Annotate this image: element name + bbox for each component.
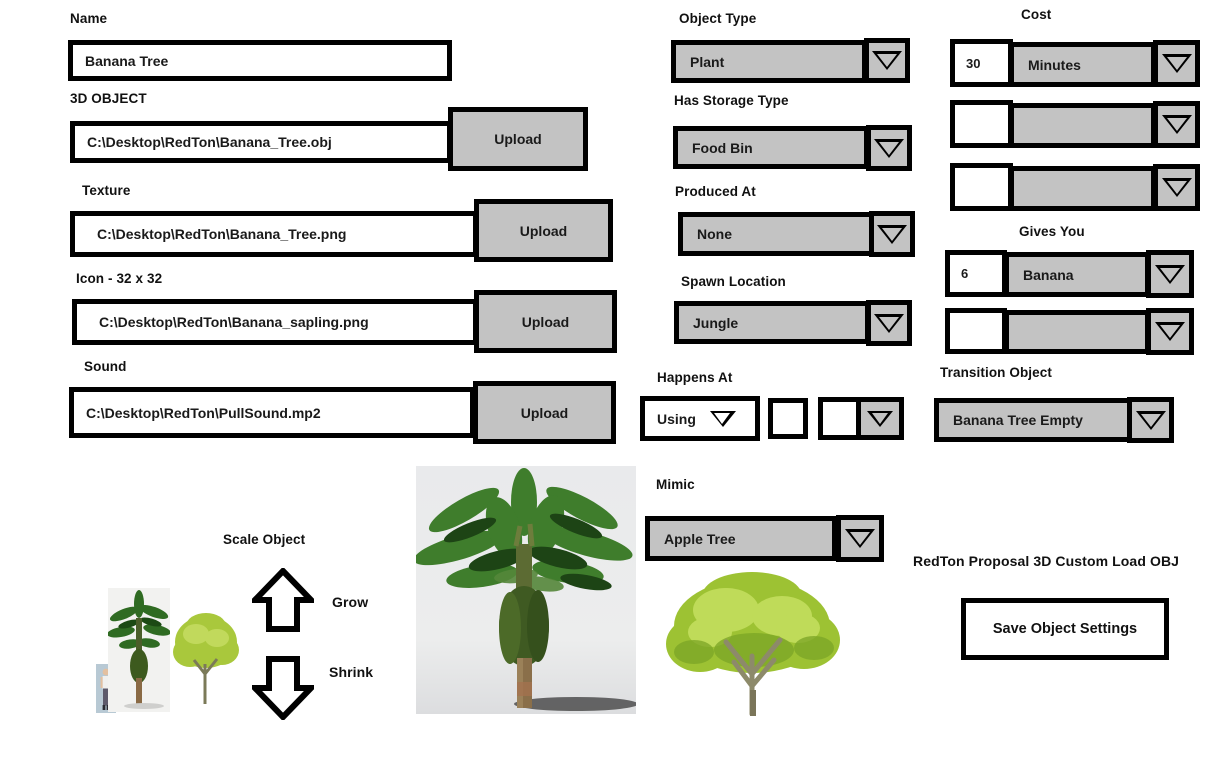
- gives-you-label: Gives You: [1019, 225, 1085, 239]
- happens-at-dropdown[interactable]: Using: [640, 396, 760, 441]
- happens-at-dropdown-arrow[interactable]: [856, 397, 904, 440]
- cost-amount-value-1: 30: [955, 56, 980, 71]
- object3d-upload-label: Upload: [494, 131, 541, 147]
- cost-unit-dropdown-3[interactable]: [1009, 166, 1156, 211]
- cost-unit-value-1: Minutes: [1014, 57, 1081, 73]
- sound-path-value: C:\Desktop\RedTon\PullSound.mp2: [74, 405, 321, 421]
- cost-label: Cost: [1021, 8, 1051, 22]
- texture-upload-button[interactable]: Upload: [474, 199, 613, 262]
- has-storage-type-value: Food Bin: [678, 140, 753, 156]
- name-input-value: Banana Tree: [73, 53, 168, 69]
- icon-path-input[interactable]: C:\Desktop\RedTon\Banana_sapling.png: [72, 299, 478, 345]
- cost-unit-dropdown-2[interactable]: [1009, 103, 1156, 148]
- icon-path-value: C:\Desktop\RedTon\Banana_sapling.png: [77, 314, 369, 330]
- gives-you-amount-input-1[interactable]: 6: [945, 250, 1007, 297]
- happens-at-box-2[interactable]: [768, 398, 808, 439]
- object-type-value: Plant: [676, 54, 724, 70]
- object-type-dropdown[interactable]: Plant: [671, 40, 867, 83]
- spawn-location-label: Spawn Location: [681, 275, 786, 289]
- spawn-location-dropdown-arrow[interactable]: [866, 300, 912, 346]
- arrow-up-icon: [252, 568, 314, 632]
- produced-at-value: None: [683, 226, 732, 242]
- texture-label: Texture: [82, 184, 130, 198]
- chevron-down-icon: [845, 529, 875, 548]
- produced-at-dropdown[interactable]: None: [678, 212, 874, 256]
- chevron-down-icon: [1162, 178, 1192, 197]
- gives-you-item-dropdown-arrow-2[interactable]: [1146, 308, 1194, 355]
- chevron-down-icon: [1155, 265, 1185, 284]
- has-storage-type-dropdown[interactable]: Food Bin: [673, 126, 869, 169]
- icon-upload-label: Upload: [522, 314, 569, 330]
- arrow-down-icon: [252, 656, 314, 720]
- has-storage-type-dropdown-arrow[interactable]: [866, 125, 912, 171]
- object-type-dropdown-arrow[interactable]: [864, 38, 910, 83]
- save-object-settings-button[interactable]: Save Object Settings: [961, 598, 1169, 660]
- transition-object-value: Banana Tree Empty: [939, 412, 1083, 428]
- scale-object-label: Scale Object: [223, 533, 305, 547]
- transition-object-dropdown[interactable]: Banana Tree Empty: [934, 398, 1132, 442]
- object3d-path-value: C:\Desktop\RedTon\Banana_Tree.obj: [75, 134, 332, 150]
- chevron-down-icon: [1136, 411, 1166, 430]
- grow-button[interactable]: [252, 568, 314, 632]
- chevron-down-icon: [1162, 115, 1192, 134]
- chevron-down-icon: [874, 314, 904, 333]
- gives-you-amount-value-1: 6: [950, 266, 968, 281]
- chevron-down-icon: [1155, 322, 1185, 341]
- transition-object-dropdown-arrow[interactable]: [1127, 397, 1174, 443]
- cost-amount-input-1[interactable]: 30: [950, 39, 1013, 87]
- happens-at-box-3[interactable]: [818, 397, 861, 440]
- gives-you-item-value-1: Banana: [1009, 267, 1074, 283]
- cost-unit-dropdown-arrow-3[interactable]: [1153, 164, 1200, 211]
- footer-note: RedTon Proposal 3D Custom Load OBJ: [913, 554, 1179, 568]
- object3d-path-input[interactable]: C:\Desktop\RedTon\Banana_Tree.obj: [70, 121, 452, 163]
- produced-at-dropdown-arrow[interactable]: [869, 211, 915, 257]
- chevron-down-icon: [874, 139, 904, 158]
- gives-you-item-dropdown-2[interactable]: [1004, 310, 1150, 354]
- gives-you-amount-input-2[interactable]: [945, 308, 1007, 354]
- scale-preview-apple-tree-image: [172, 608, 240, 708]
- scale-preview-banana-tree-image: [108, 588, 170, 712]
- chevron-down-icon: [710, 411, 736, 427]
- shrink-button[interactable]: [252, 656, 314, 720]
- chevron-down-icon: [1162, 54, 1192, 73]
- cost-unit-dropdown-arrow-2[interactable]: [1153, 101, 1200, 148]
- produced-at-label: Produced At: [675, 185, 756, 199]
- chevron-down-icon: [867, 411, 893, 427]
- cost-amount-input-2[interactable]: [950, 100, 1013, 148]
- sound-upload-button[interactable]: Upload: [473, 381, 616, 444]
- sound-path-input[interactable]: C:\Desktop\RedTon\PullSound.mp2: [69, 387, 475, 438]
- spawn-location-value: Jungle: [679, 315, 738, 331]
- banana-tree-preview-image: [416, 466, 636, 714]
- name-input[interactable]: Banana Tree: [68, 40, 452, 81]
- object3d-upload-button[interactable]: Upload: [448, 107, 588, 171]
- icon-upload-button[interactable]: Upload: [474, 290, 617, 353]
- happens-at-value: Using: [645, 411, 696, 427]
- gives-you-item-dropdown-1[interactable]: Banana: [1004, 252, 1150, 297]
- cost-unit-dropdown-1[interactable]: Minutes: [1009, 42, 1156, 87]
- grow-label: Grow: [332, 595, 368, 609]
- chevron-down-icon: [872, 51, 902, 70]
- spawn-location-dropdown[interactable]: Jungle: [674, 301, 870, 344]
- name-label: Name: [70, 12, 107, 26]
- has-storage-type-label: Has Storage Type: [674, 94, 789, 108]
- texture-upload-label: Upload: [520, 223, 567, 239]
- shrink-label: Shrink: [329, 665, 373, 679]
- sound-label: Sound: [84, 360, 127, 374]
- texture-path-value: C:\Desktop\RedTon\Banana_Tree.png: [75, 226, 346, 242]
- mimic-value: Apple Tree: [650, 531, 736, 547]
- mimic-dropdown-arrow[interactable]: [836, 515, 884, 562]
- transition-object-label: Transition Object: [940, 366, 1052, 380]
- icon-label: Icon - 32 x 32: [76, 272, 162, 286]
- cost-amount-input-3[interactable]: [950, 163, 1013, 211]
- object3d-label: 3D OBJECT: [70, 92, 147, 106]
- texture-path-input[interactable]: C:\Desktop\RedTon\Banana_Tree.png: [70, 211, 478, 257]
- object-type-label: Object Type: [679, 12, 756, 26]
- mimic-dropdown[interactable]: Apple Tree: [645, 516, 837, 561]
- mimic-label: Mimic: [656, 478, 695, 492]
- cost-unit-dropdown-arrow-1[interactable]: [1153, 40, 1200, 87]
- happens-at-label: Happens At: [657, 371, 733, 385]
- save-object-settings-label: Save Object Settings: [993, 621, 1137, 637]
- chevron-down-icon: [877, 225, 907, 244]
- gives-you-item-dropdown-arrow-1[interactable]: [1146, 250, 1194, 298]
- sound-upload-label: Upload: [521, 405, 568, 421]
- mimic-apple-tree-preview-image: [664, 570, 844, 716]
